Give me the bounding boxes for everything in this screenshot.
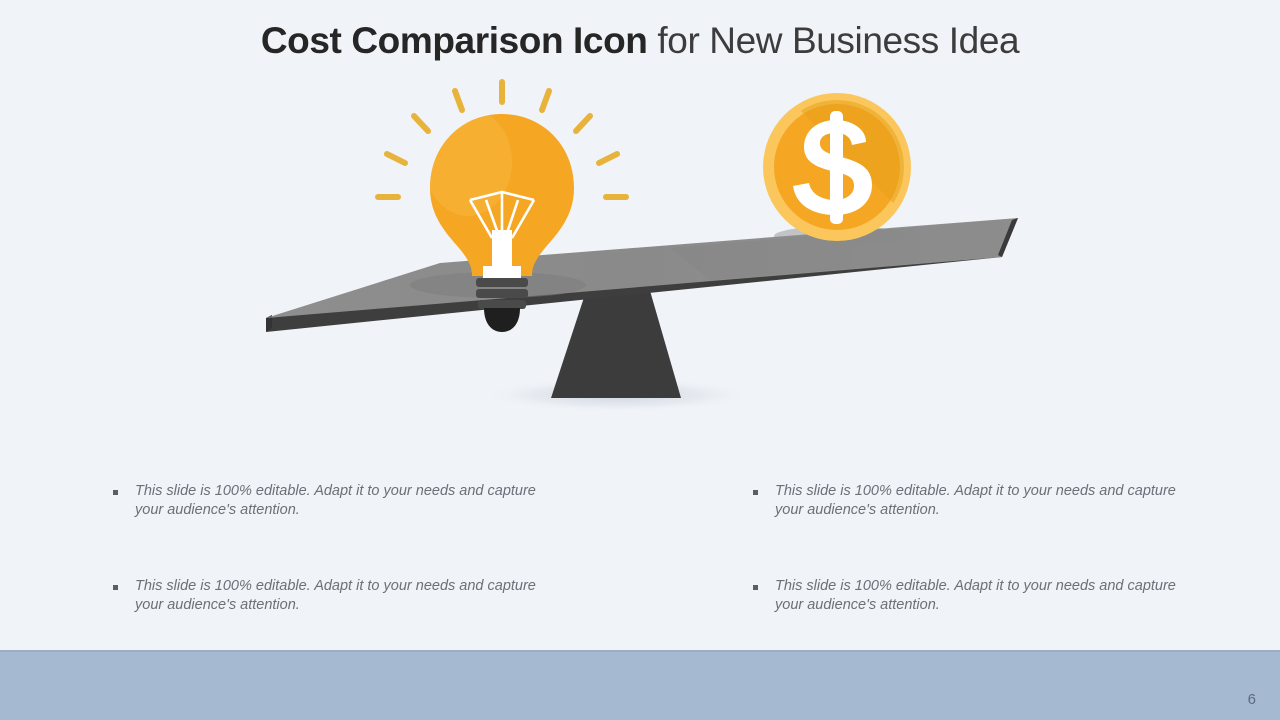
list-item: This slide is 100% editable. Adapt it to… [753,482,1183,520]
page-title-rest: for New Business Idea [648,20,1020,61]
dollar-coin-icon [763,70,940,250]
page-title: Cost Comparison Icon for New Business Id… [0,18,1280,64]
list-item: This slide is 100% editable. Adapt it to… [113,577,543,615]
seesaw-illustration [240,70,1060,430]
bullet-square-icon [113,490,118,495]
bullet-left-row-2: This slide is 100% editable. Adapt it to… [113,577,543,615]
list-item: This slide is 100% editable. Adapt it to… [753,577,1183,615]
bullet-right-row-1: This slide is 100% editable. Adapt it to… [753,482,1183,520]
footer-bar: 6 [0,650,1280,720]
page-number: 6 [1248,691,1256,708]
bullet-square-icon [113,585,118,590]
list-item-label: This slide is 100% editable. Adapt it to… [135,483,536,518]
bullet-left-row-1: This slide is 100% editable. Adapt it to… [113,482,543,520]
lightbulb-highlight [424,108,512,216]
list-item-label: This slide is 100% editable. Adapt it to… [135,578,536,613]
bullet-square-icon [753,585,758,590]
list-item-label: This slide is 100% editable. Adapt it to… [775,578,1176,613]
bullet-content-area: This slide is 100% editable. Adapt it to… [0,470,1280,640]
bullet-square-icon [753,490,758,495]
list-item-label: This slide is 100% editable. Adapt it to… [775,483,1176,518]
list-item: This slide is 100% editable. Adapt it to… [113,482,543,520]
bullet-right-row-2: This slide is 100% editable. Adapt it to… [753,577,1183,615]
page-title-emphasis: Cost Comparison Icon [261,20,648,61]
lightbulb-screw-base [476,278,528,332]
